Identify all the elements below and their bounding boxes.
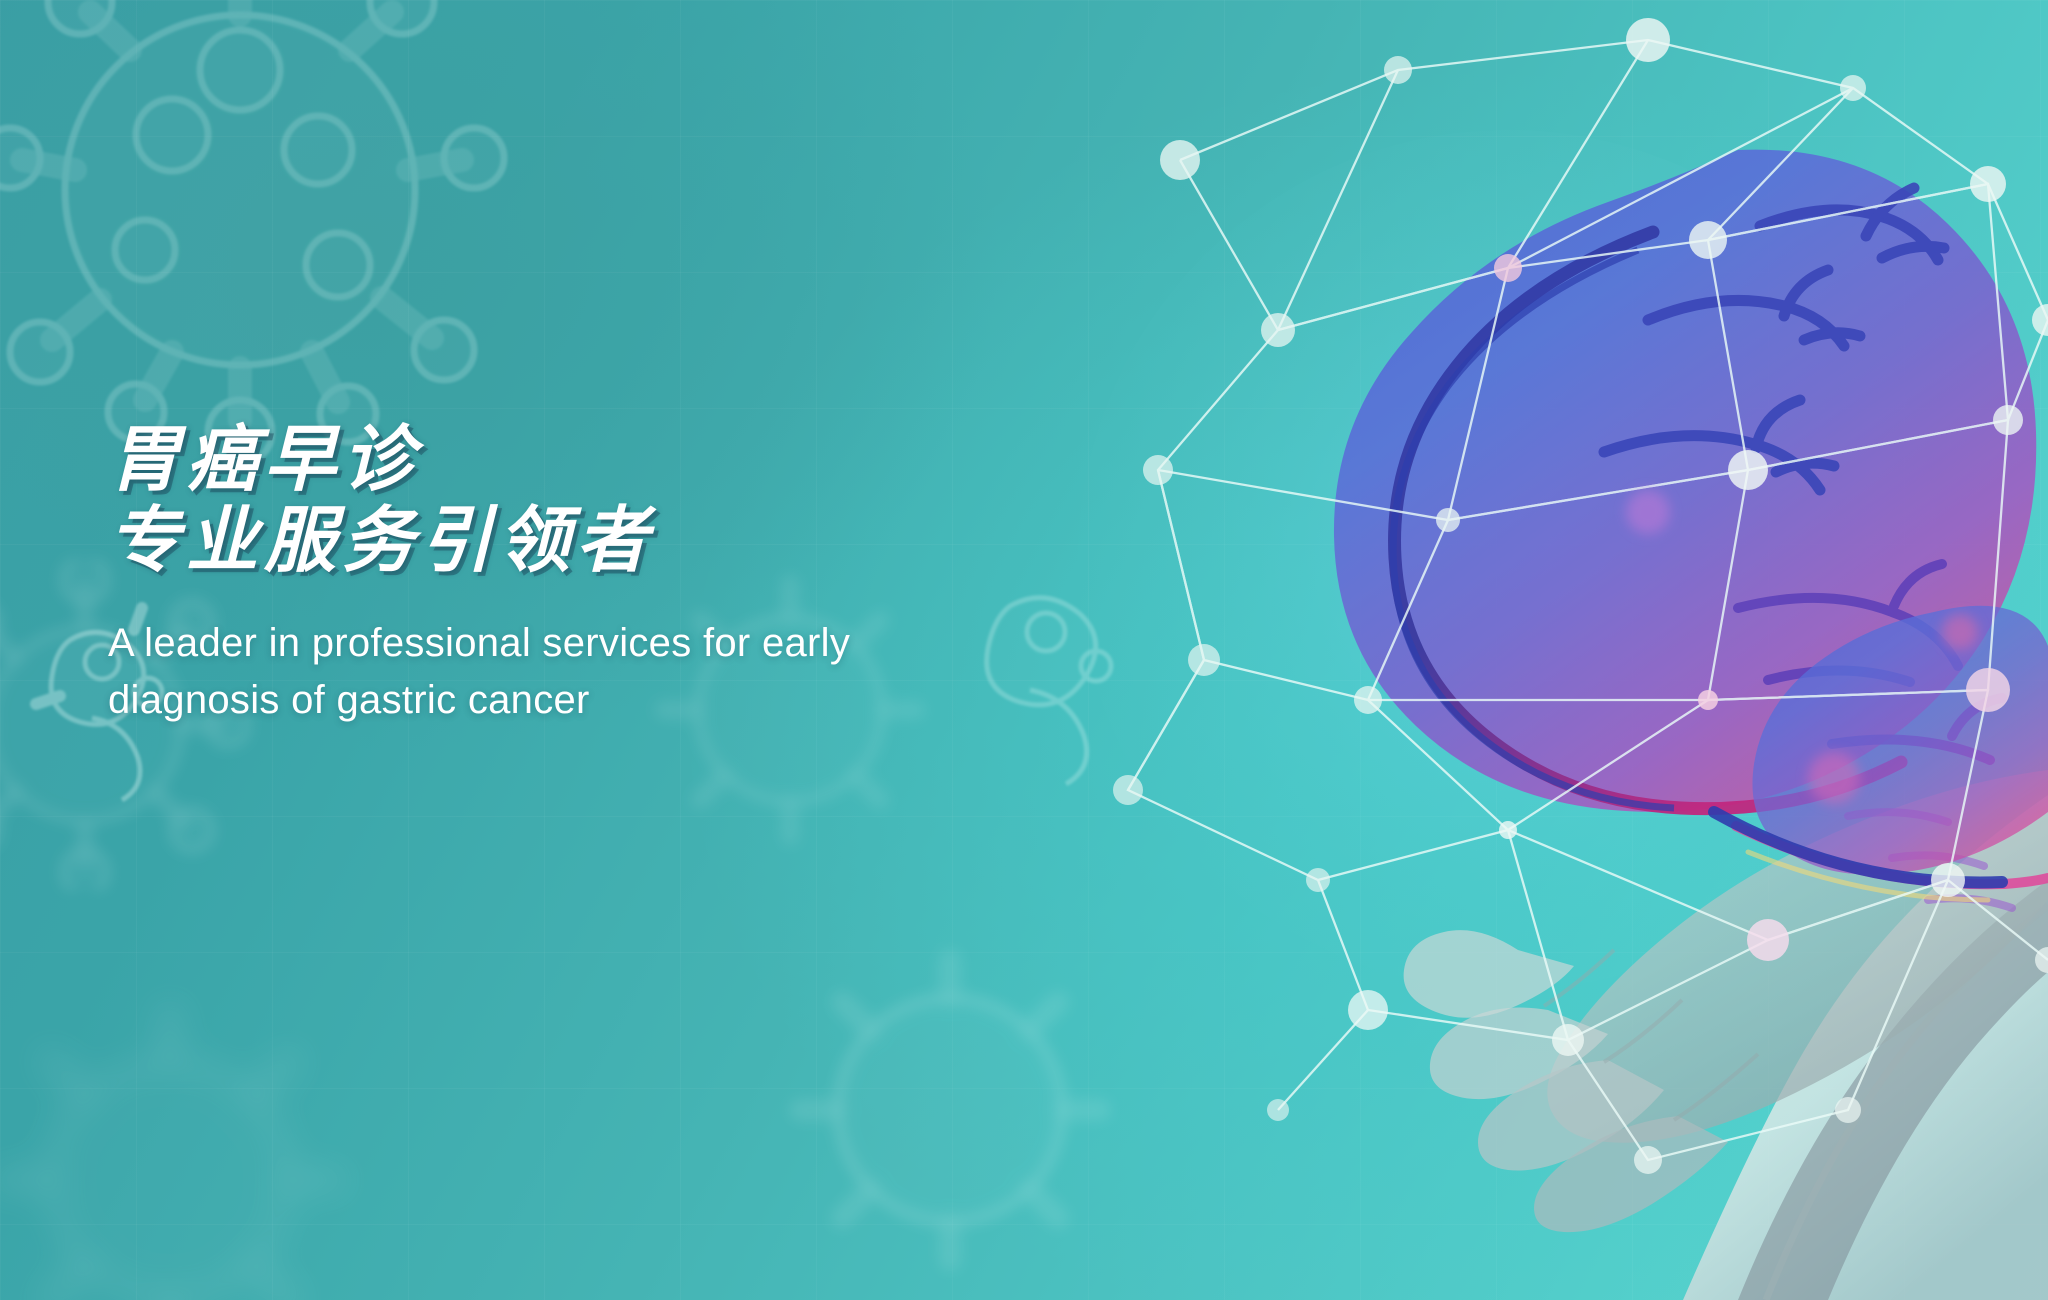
subtitle-line-1: A leader in professional services for ea…	[108, 615, 850, 672]
coronavirus-icon-top-left	[0, 0, 560, 480]
hero-copy: 胃癌早诊 专业服务引领者 A leader in professional se…	[108, 420, 850, 729]
page-subtitle: A leader in professional services for ea…	[108, 615, 850, 729]
page-title: 胃癌早诊 专业服务引领者	[108, 420, 850, 581]
headline-line-1: 胃癌早诊	[108, 420, 420, 500]
headline-line-2: 专业服务引领者	[108, 501, 850, 582]
hero-banner: 胃癌早诊 专业服务引领者 A leader in professional se…	[0, 0, 2048, 1300]
hero-artwork	[948, 0, 2048, 1300]
coronavirus-icon-bottom-left	[0, 980, 370, 1300]
subtitle-line-2: diagnosis of gastric cancer	[108, 672, 850, 729]
